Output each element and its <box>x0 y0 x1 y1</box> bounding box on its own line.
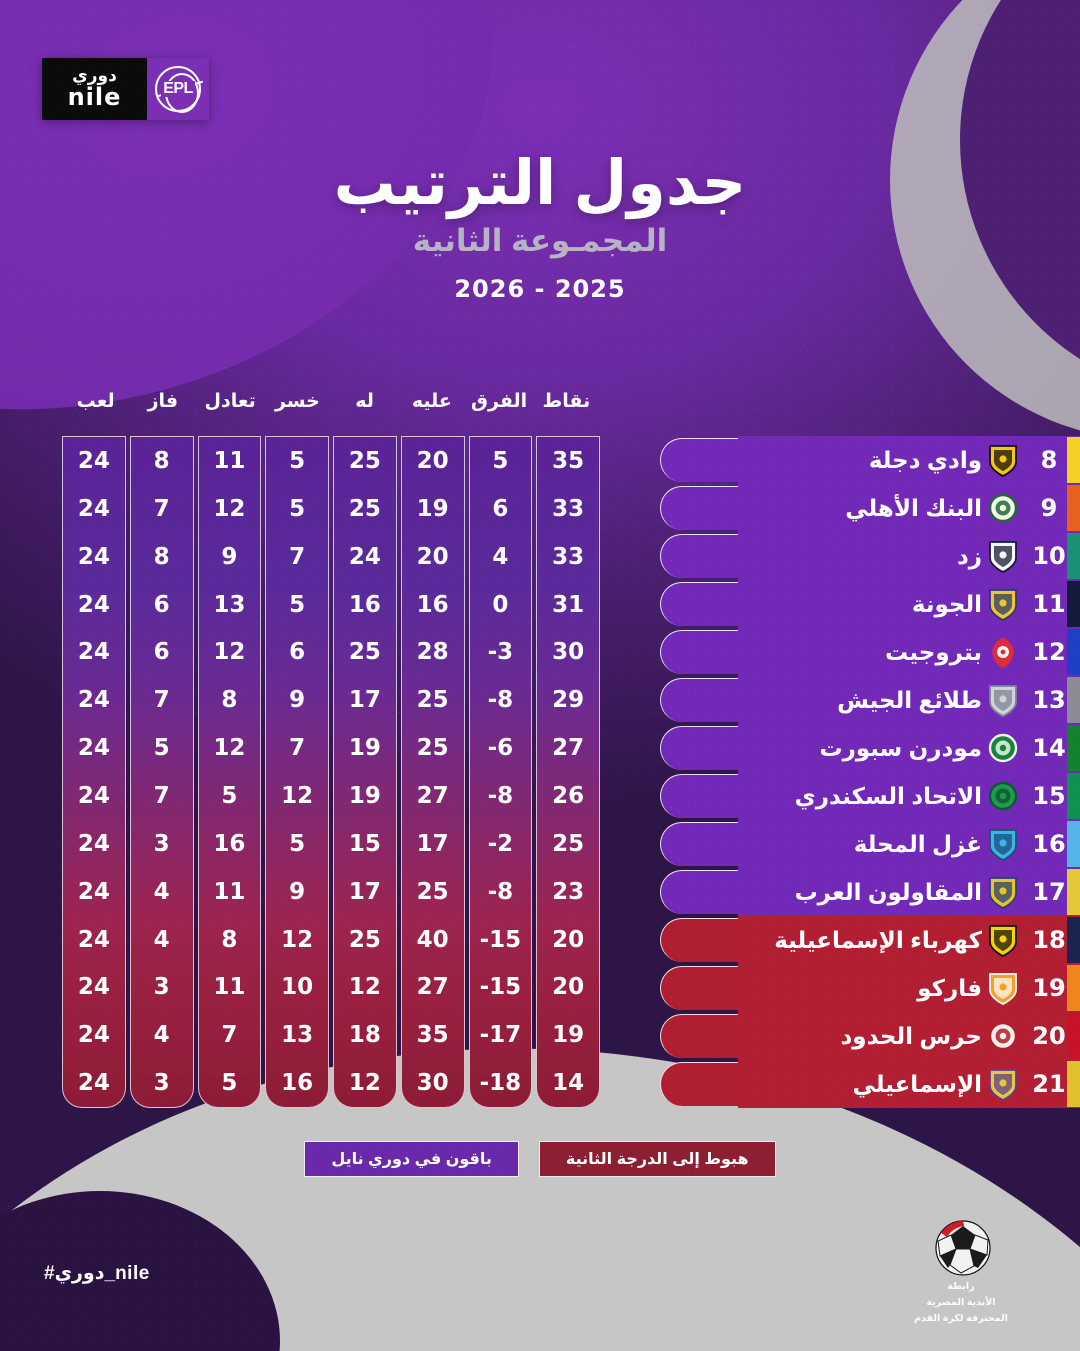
team-name: المقاولون العرب <box>680 868 982 916</box>
stat-cell: 24 <box>63 1059 125 1107</box>
stat-cell: 24 <box>63 916 125 964</box>
stat-cell: 12 <box>199 628 261 676</box>
team-position: 20 <box>1026 1012 1072 1060</box>
stat-cell: 33 <box>537 533 599 581</box>
stat-cell: 24 <box>63 437 125 485</box>
team-name: البنك الأهلي <box>680 484 982 532</box>
team-badge-icon <box>981 580 1025 628</box>
team-name: مودرن سبورت <box>680 724 982 772</box>
stat-cell: 3 <box>131 963 193 1011</box>
stat-cell: 40 <box>402 916 464 964</box>
stat-cell: 3 <box>131 820 193 868</box>
stat-column-0: 3533333130292726252320201914 <box>536 436 600 1108</box>
team-badge-icon <box>981 916 1025 964</box>
stat-cell: 18 <box>334 1011 396 1059</box>
team-accent-strip <box>1067 773 1080 819</box>
stat-cell: 16 <box>199 820 261 868</box>
stat-cell: 11 <box>199 868 261 916</box>
stat-cell: 24 <box>63 772 125 820</box>
legend-stay[interactable]: باقون في دوري نايل <box>304 1141 519 1177</box>
stat-cell: 25 <box>402 868 464 916</box>
stat-cell: 6 <box>266 628 328 676</box>
stat-cell: 17 <box>334 676 396 724</box>
stat-cell: 29 <box>537 676 599 724</box>
stat-cell: 24 <box>63 1011 125 1059</box>
nile-logo: دوري nile <box>42 58 147 120</box>
stat-header-0: نقاط <box>533 392 600 428</box>
table-row[interactable]: المقاولون العرب17 <box>660 868 1080 916</box>
stat-columns: 353333313029272625232020191456403-8-6-8-… <box>62 436 600 1108</box>
table-row[interactable]: الجونة11 <box>660 580 1080 628</box>
stat-cell: 12 <box>199 724 261 772</box>
stat-cell: 11 <box>199 963 261 1011</box>
team-badge-icon <box>981 628 1025 676</box>
stat-cell: 17- <box>470 1011 532 1059</box>
stat-cell: 13 <box>266 1011 328 1059</box>
team-name: طلائع الجيش <box>680 676 982 724</box>
efa-line-1: رابطة <box>947 1280 974 1294</box>
stat-cell: 24 <box>63 820 125 868</box>
team-name: الجونة <box>680 580 982 628</box>
stat-cell: 5 <box>266 820 328 868</box>
stat-cell: 15- <box>470 916 532 964</box>
stat-cell: 18- <box>470 1059 532 1107</box>
stat-cell: 8 <box>199 916 261 964</box>
football-icon <box>930 1216 992 1278</box>
table-row[interactable]: زد10 <box>660 532 1080 580</box>
team-badge-icon <box>981 484 1025 532</box>
team-accent-strip <box>1067 677 1080 723</box>
stat-cell: 8- <box>470 772 532 820</box>
stat-cell: 17 <box>402 820 464 868</box>
stat-cell: 24 <box>63 724 125 772</box>
team-position: 10 <box>1026 532 1072 580</box>
team-accent-strip <box>1067 1013 1080 1059</box>
stat-cell: 12 <box>266 772 328 820</box>
epl-logo: EPL <box>147 58 209 120</box>
team-position: 12 <box>1026 628 1072 676</box>
team-badge-icon <box>981 676 1025 724</box>
stat-cell: 4 <box>131 916 193 964</box>
stat-cell: 24 <box>63 581 125 629</box>
stat-cell: 31 <box>537 581 599 629</box>
stat-cell: 4 <box>131 868 193 916</box>
stat-cell: 12 <box>266 916 328 964</box>
stat-column-7: 2424242424242424242424242424 <box>62 436 126 1108</box>
table-row[interactable]: مودرن سبورت14 <box>660 724 1080 772</box>
stat-cell: 20 <box>402 533 464 581</box>
globe-icon: EPL <box>155 66 201 112</box>
efa-line-2: الأندية المصرية <box>926 1296 995 1310</box>
team-accent-strip <box>1067 821 1080 867</box>
stat-cell: 11 <box>199 437 261 485</box>
stat-cell: 23 <box>537 868 599 916</box>
nile-logo-latin: nile <box>68 85 122 109</box>
team-accent-strip <box>1067 629 1080 675</box>
stat-cell: 25 <box>402 724 464 772</box>
stat-cell: 13 <box>199 581 261 629</box>
team-accent-strip <box>1067 725 1080 771</box>
efa-line-3: المحترفة لكرة القدم <box>914 1312 1008 1326</box>
stat-header-2: عليه <box>398 392 465 428</box>
league-logo: EPL دوري nile <box>42 58 209 120</box>
team-badge-icon <box>981 1060 1025 1108</box>
team-accent-strip <box>1067 869 1080 915</box>
team-accent-strip <box>1067 1061 1080 1107</box>
stat-cell: 5 <box>199 1059 261 1107</box>
table-row[interactable]: بتروجيت12 <box>660 628 1080 676</box>
table-row[interactable]: الإسماعيلي21 <box>660 1060 1080 1108</box>
stat-cell: 6- <box>470 724 532 772</box>
stat-cell: 24 <box>334 533 396 581</box>
stat-header-6: فاز <box>129 392 196 428</box>
stat-column-3: 2525241625171919151725121812 <box>333 436 397 1108</box>
stat-cell: 7 <box>131 485 193 533</box>
stat-cell: 4 <box>131 1011 193 1059</box>
team-rows: وادي دجلة8البنك الأهلي9زد10الجونة11بتروج… <box>660 436 1080 1108</box>
team-position: 17 <box>1026 868 1072 916</box>
table-row[interactable]: غزل المحلة16 <box>660 820 1080 868</box>
hashtag: #دوري_nile <box>44 1262 150 1285</box>
team-accent-strip <box>1067 533 1080 579</box>
stat-cell: 19 <box>537 1011 599 1059</box>
stat-cell: 30 <box>537 628 599 676</box>
team-position: 14 <box>1026 724 1072 772</box>
team-badge-icon <box>981 964 1025 1012</box>
stat-cell: 24 <box>63 676 125 724</box>
stat-cell: 3 <box>131 1059 193 1107</box>
table-row[interactable]: كهرباء الإسماعيلية18 <box>660 916 1080 964</box>
stat-cell: 6 <box>131 628 193 676</box>
team-position: 15 <box>1026 772 1072 820</box>
stat-column-1: 56403-8-6-8-2-8-15-15-17-18- <box>469 436 533 1108</box>
stat-cell: 12 <box>334 963 396 1011</box>
team-accent-strip <box>1067 965 1080 1011</box>
stat-cell: 2- <box>470 820 532 868</box>
stat-cell: 26 <box>537 772 599 820</box>
stat-cell: 17 <box>334 868 396 916</box>
team-name: بتروجيت <box>680 628 982 676</box>
stat-cell: 5 <box>266 581 328 629</box>
title-block: جدول الترتيب المجمـوعة الثانية 2026 - 20… <box>0 148 1080 303</box>
stat-header-5: تعادل <box>197 392 264 428</box>
stat-cell: 27 <box>402 963 464 1011</box>
team-position: 19 <box>1026 964 1072 1012</box>
team-badge-icon <box>981 772 1025 820</box>
stat-cell: 25 <box>402 676 464 724</box>
page-subtitle: المجمـوعة الثانية <box>0 223 1080 259</box>
team-name: الإسماعيلي <box>680 1060 982 1108</box>
stat-cell: 20 <box>537 963 599 1011</box>
stat-column-4: 5575697125912101316 <box>265 436 329 1108</box>
stat-cell: 20 <box>537 916 599 964</box>
table-row[interactable]: طلائع الجيش13 <box>660 676 1080 724</box>
stat-column-6: 87866757344343 <box>130 436 194 1108</box>
stat-column-2: 2019201628252527172540273530 <box>401 436 465 1108</box>
stat-cell: 12 <box>334 1059 396 1107</box>
stat-cell: 16 <box>334 581 396 629</box>
stat-cell: 5 <box>131 724 193 772</box>
team-name: وادي دجلة <box>680 436 982 484</box>
team-name: حرس الحدود <box>680 1012 982 1060</box>
stat-cell: 27 <box>402 772 464 820</box>
stat-cell: 24 <box>63 868 125 916</box>
stat-cell: 16 <box>266 1059 328 1107</box>
page-title: جدول الترتيب <box>0 148 1080 219</box>
stat-cell: 24 <box>63 628 125 676</box>
stat-cell: 7 <box>131 772 193 820</box>
legend-relegation[interactable]: هبوط إلى الدرجة الثانية <box>539 1141 776 1177</box>
stat-cell: 28 <box>402 628 464 676</box>
stat-cell: 8 <box>199 676 261 724</box>
stat-cell: 8 <box>131 437 193 485</box>
team-badge-icon <box>981 1012 1025 1060</box>
stat-cell: 5 <box>470 437 532 485</box>
stat-cell: 6 <box>470 485 532 533</box>
table-row[interactable]: البنك الأهلي9 <box>660 484 1080 532</box>
stat-cell: 19 <box>402 485 464 533</box>
team-name: كهرباء الإسماعيلية <box>680 916 982 964</box>
stat-cell: 25 <box>334 916 396 964</box>
team-badge-icon <box>981 436 1025 484</box>
stat-cell: 25 <box>334 485 396 533</box>
stat-cell: 24 <box>63 533 125 581</box>
team-name: الاتحاد السكندري <box>680 772 982 820</box>
stat-cell: 9 <box>199 533 261 581</box>
legend: هبوط إلى الدرجة الثانية باقون في دوري نا… <box>0 1141 1080 1177</box>
stat-cell: 15- <box>470 963 532 1011</box>
stat-cell: 6 <box>131 581 193 629</box>
table-row[interactable]: الاتحاد السكندري15 <box>660 772 1080 820</box>
stat-cell: 5 <box>266 437 328 485</box>
stat-cell: 25 <box>334 437 396 485</box>
stat-cell: 7 <box>266 533 328 581</box>
stat-cell: 35 <box>537 437 599 485</box>
team-badge-icon <box>981 532 1025 580</box>
team-position: 18 <box>1026 916 1072 964</box>
stat-cell: 7 <box>266 724 328 772</box>
stat-cell: 25 <box>537 820 599 868</box>
efa-logo: رابطة الأندية المصرية المحترفة لكرة القد… <box>886 1216 1036 1325</box>
table-row[interactable]: وادي دجلة8 <box>660 436 1080 484</box>
stat-cell: 25 <box>334 628 396 676</box>
team-badge-icon <box>981 724 1025 772</box>
stat-header-7: لعب <box>62 392 129 428</box>
standings-infographic: EPL دوري nile جدول الترتيب المجمـوعة الث… <box>0 0 1080 1351</box>
team-position: 21 <box>1026 1060 1072 1108</box>
table-row[interactable]: حرس الحدود20 <box>660 1012 1080 1060</box>
team-name: فاركو <box>680 964 982 1012</box>
stat-cell: 24 <box>63 485 125 533</box>
team-position: 11 <box>1026 580 1072 628</box>
team-position: 13 <box>1026 676 1072 724</box>
team-accent-strip <box>1067 917 1080 963</box>
stat-cell: 30 <box>402 1059 464 1107</box>
stat-cell: 9 <box>266 868 328 916</box>
stat-cell: 20 <box>402 437 464 485</box>
stat-cell: 8- <box>470 676 532 724</box>
stat-header-1: الفرق <box>466 392 533 428</box>
stat-header-row: نقاطالفرقعليهلهخسرتعادلفازلعب <box>62 392 600 428</box>
team-accent-strip <box>1067 581 1080 627</box>
stat-cell: 5 <box>199 772 261 820</box>
stat-cell: 19 <box>334 724 396 772</box>
team-badge-icon <box>981 868 1025 916</box>
stat-header-3: له <box>331 392 398 428</box>
stat-cell: 24 <box>63 963 125 1011</box>
epl-wordmark: EPL <box>161 81 195 97</box>
stat-cell: 7 <box>131 676 193 724</box>
stat-cell: 14 <box>537 1059 599 1107</box>
team-position: 16 <box>1026 820 1072 868</box>
stat-cell: 0 <box>470 581 532 629</box>
stat-cell: 8- <box>470 868 532 916</box>
stat-cell: 15 <box>334 820 396 868</box>
stat-cell: 9 <box>266 676 328 724</box>
stat-cell: 16 <box>402 581 464 629</box>
team-accent-strip <box>1067 485 1080 531</box>
table-row[interactable]: فاركو19 <box>660 964 1080 1012</box>
team-accent-strip <box>1067 437 1080 483</box>
stat-cell: 4 <box>470 533 532 581</box>
team-position: 9 <box>1026 484 1072 532</box>
stat-cell: 8 <box>131 533 193 581</box>
season-label: 2026 - 2025 <box>0 275 1080 303</box>
stat-cell: 33 <box>537 485 599 533</box>
stat-cell: 7 <box>199 1011 261 1059</box>
stat-cell: 3- <box>470 628 532 676</box>
stat-cell: 12 <box>199 485 261 533</box>
stat-cell: 5 <box>266 485 328 533</box>
team-badge-icon <box>981 820 1025 868</box>
stat-header-4: خسر <box>264 392 331 428</box>
team-name: زد <box>680 532 982 580</box>
stat-cell: 10 <box>266 963 328 1011</box>
stat-cell: 27 <box>537 724 599 772</box>
stat-cell: 19 <box>334 772 396 820</box>
team-name: غزل المحلة <box>680 820 982 868</box>
stat-column-5: 1112913128125161181175 <box>198 436 262 1108</box>
stat-cell: 35 <box>402 1011 464 1059</box>
team-position: 8 <box>1026 436 1072 484</box>
